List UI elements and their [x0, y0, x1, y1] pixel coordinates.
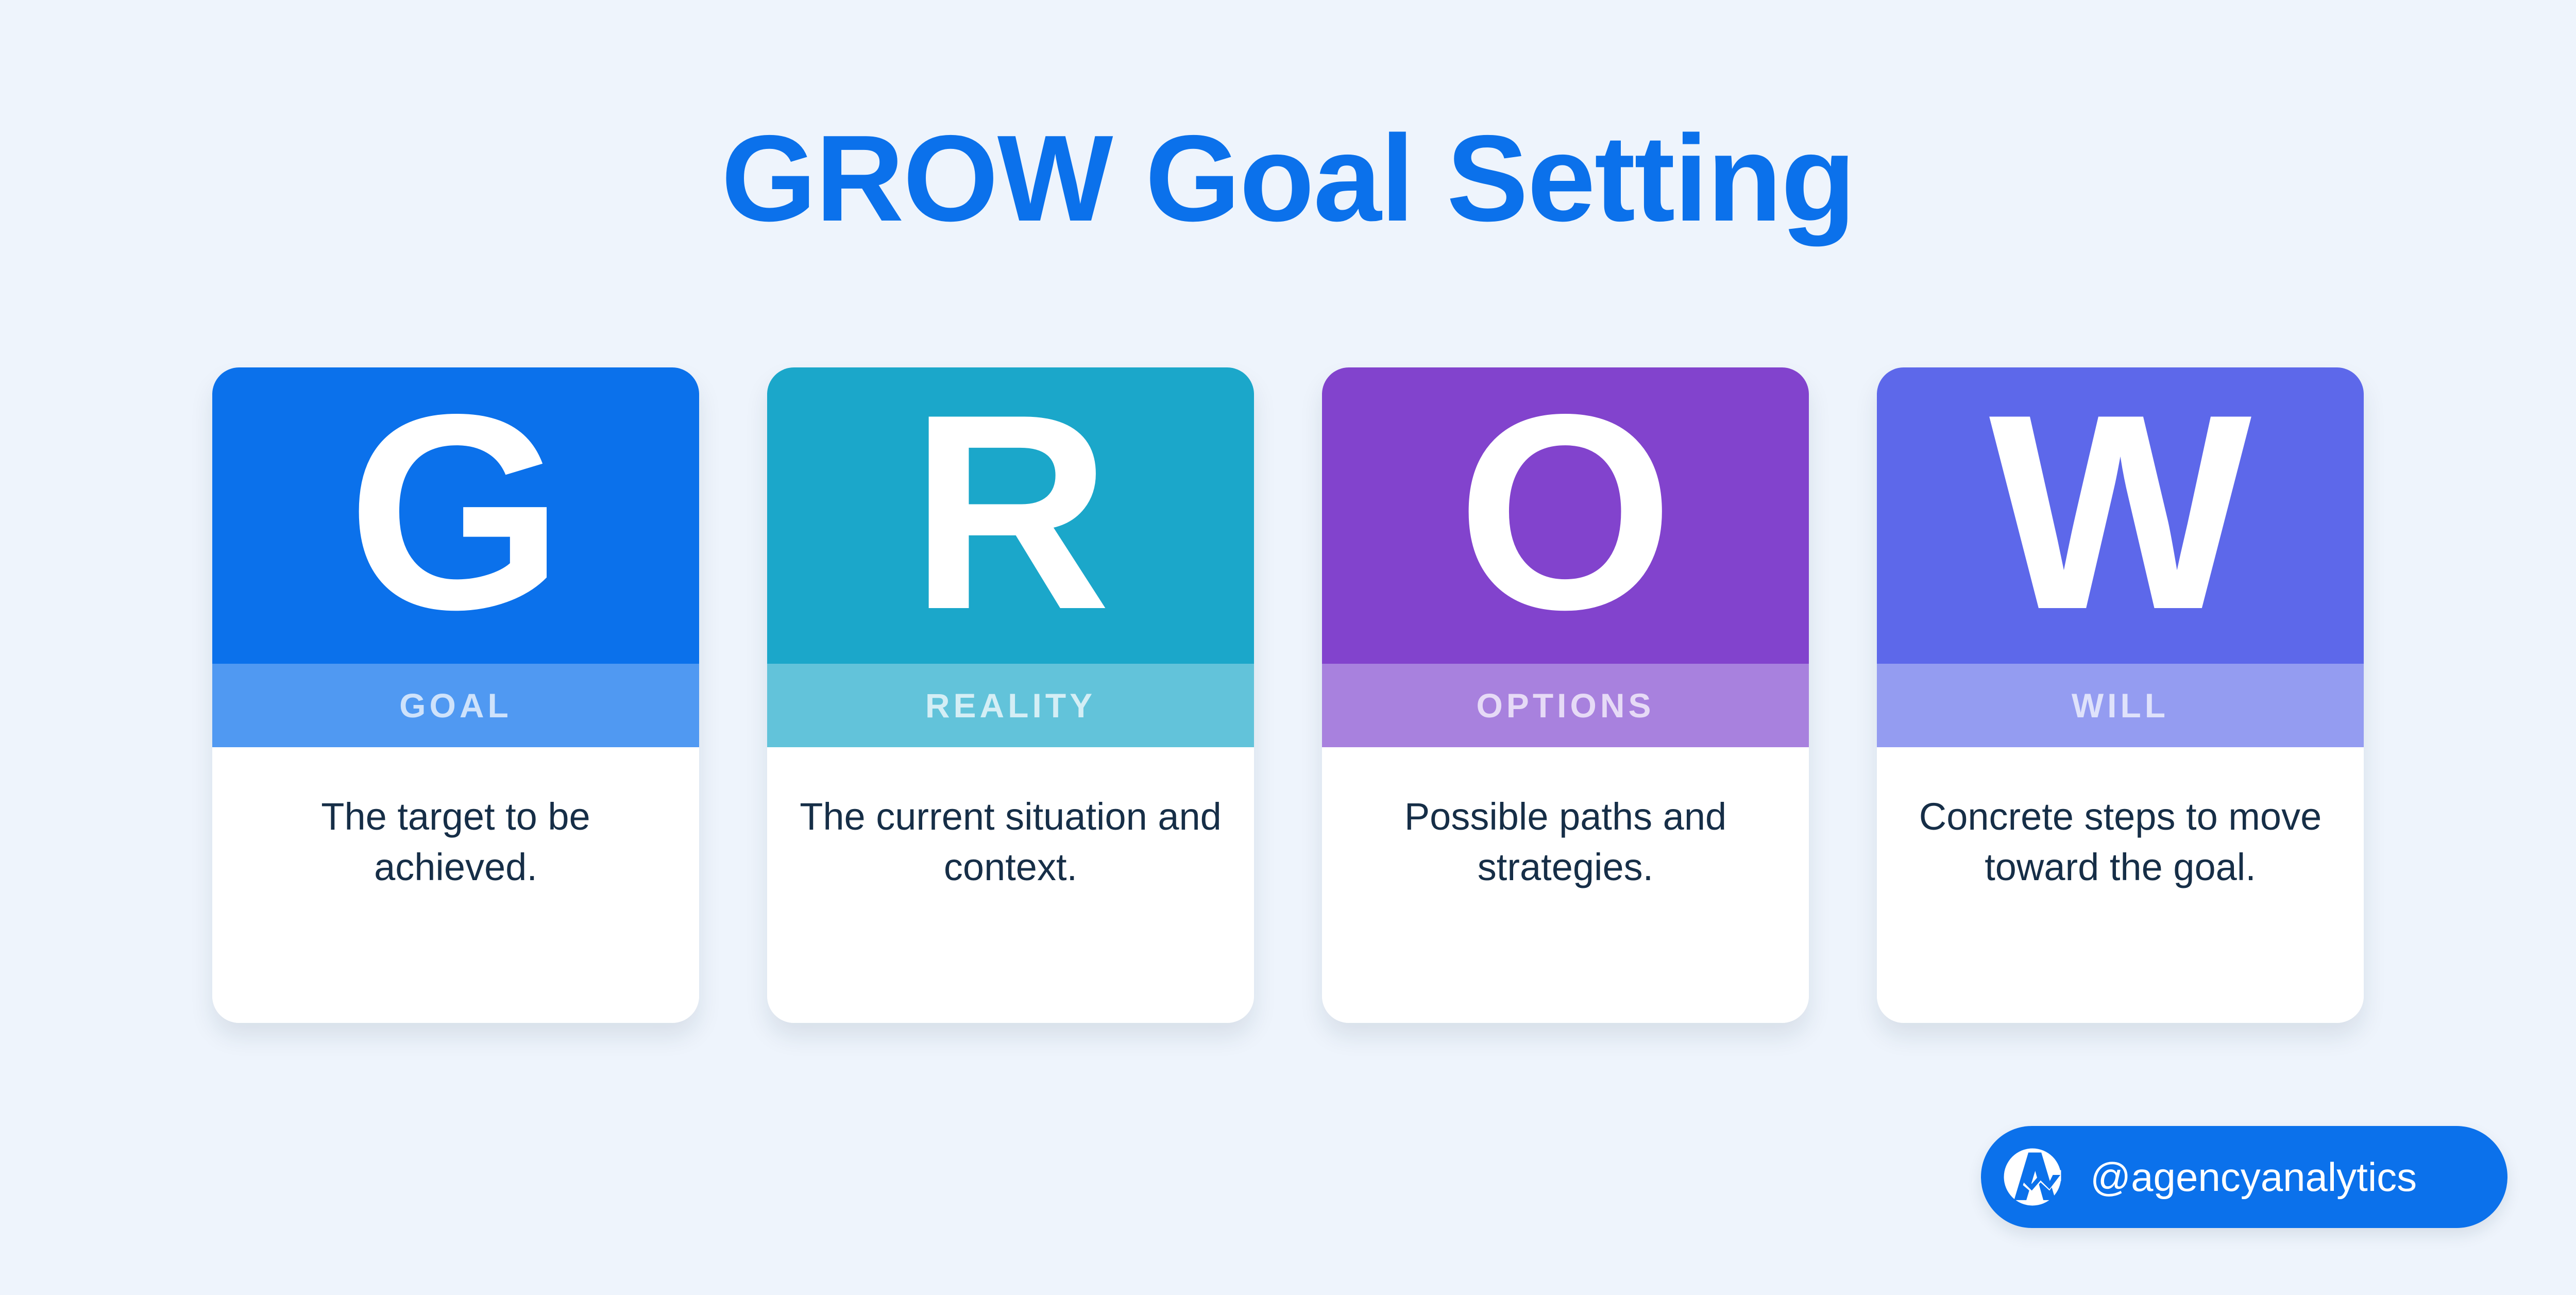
card-desc-wrap-goal: The target to be achieved. [212, 747, 699, 1023]
card-options[interactable]: O OPTIONS Possible paths and strategies. [1322, 367, 1809, 1023]
card-description-goal: The target to be achieved. [245, 792, 667, 892]
card-desc-wrap-reality: The current situation and context. [767, 747, 1254, 1023]
card-description-reality: The current situation and context. [800, 792, 1222, 892]
card-description-options: Possible paths and strategies. [1354, 792, 1777, 892]
card-will[interactable]: W WILL Concrete steps to move toward the… [1877, 367, 2364, 1023]
agencyanalytics-logo-icon [1998, 1143, 2066, 1211]
card-letter-g: G [212, 367, 699, 664]
page-title: GROW Goal Setting [0, 112, 2576, 245]
card-label-options: OPTIONS [1322, 664, 1809, 747]
card-label-reality: REALITY [767, 664, 1254, 747]
card-letter-r: R [767, 367, 1254, 664]
card-label-will: WILL [1877, 664, 2364, 747]
card-desc-wrap-options: Possible paths and strategies. [1322, 747, 1809, 1023]
grow-cards-row: G GOAL The target to be achieved. R REAL… [212, 367, 2364, 1023]
card-letter-o: O [1322, 367, 1809, 664]
card-description-will: Concrete steps to move toward the goal. [1909, 792, 2332, 892]
card-desc-wrap-will: Concrete steps to move toward the goal. [1877, 747, 2364, 1023]
card-reality[interactable]: R REALITY The current situation and cont… [767, 367, 1254, 1023]
card-label-goal: GOAL [212, 664, 699, 747]
handle-text: @agencyanalytics [2090, 1154, 2417, 1201]
card-goal[interactable]: G GOAL The target to be achieved. [212, 367, 699, 1023]
handle-badge[interactable]: @agencyanalytics [1981, 1126, 2507, 1228]
card-letter-w: W [1877, 367, 2364, 664]
